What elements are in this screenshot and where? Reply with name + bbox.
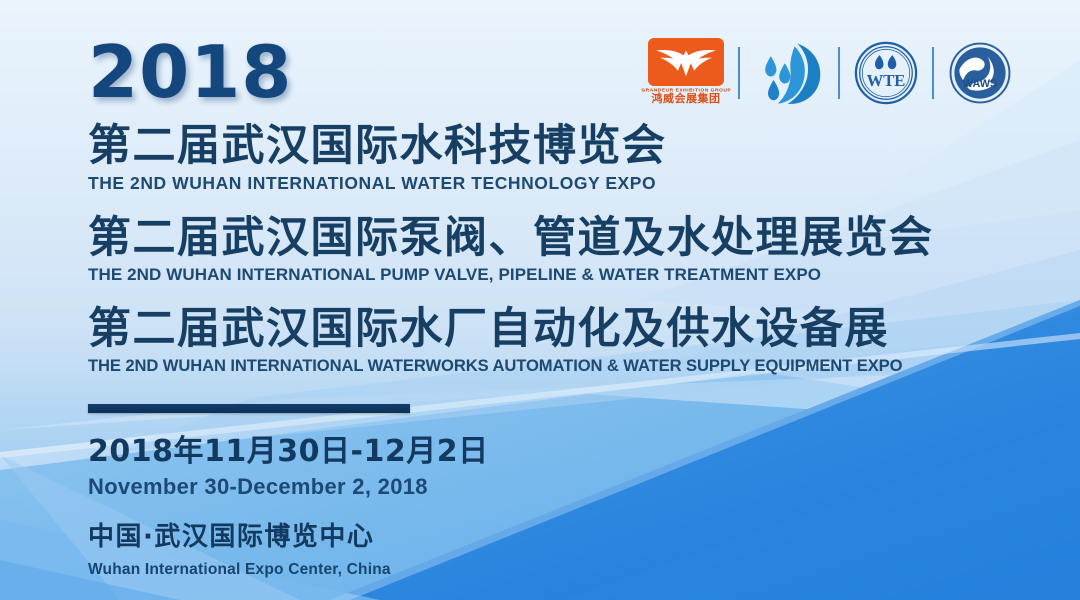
- title-block-pump-valve: 第二届武汉国际泵阀、管道及水处理展览会 THE 2ND WUHAN INTERN…: [88, 214, 934, 285]
- title-cn-3: 第二届武汉国际水厂自动化及供水设备展: [88, 305, 934, 353]
- water-drop-logo: [754, 38, 824, 108]
- water-droplets-icon: [754, 38, 824, 108]
- title-en-2: THE 2ND WUHAN INTERNATIONAL PUMP VALVE, …: [88, 265, 934, 285]
- event-date-en: November 30-December 2, 2018: [88, 474, 934, 500]
- grandeur-english-name: GRANDEUR EXHIBITION GROUP: [641, 87, 731, 92]
- title-en-1: THE 2ND WUHAN INTERNATIONAL WATER TECHNO…: [88, 173, 934, 194]
- grandeur-chinese-name: 鸿威会展集团: [652, 93, 721, 105]
- waws-logo: WAWS: [948, 41, 1012, 105]
- event-venue-en: Wuhan International Expo Center, China: [88, 561, 934, 579]
- logo-divider: [932, 47, 934, 99]
- wte-logo: WTE: [854, 41, 918, 105]
- wte-seal-icon: WTE: [854, 41, 918, 105]
- logo-divider: [738, 47, 740, 99]
- event-details: 2018年11月30日-12月2日 November 30-December 2…: [88, 435, 934, 579]
- title-cn-1: 第二届武汉国际水科技博览会: [88, 122, 934, 170]
- waws-globe-icon: WAWS: [948, 41, 1012, 105]
- title-cn-2: 第二届武汉国际泵阀、管道及水处理展览会: [88, 214, 934, 262]
- event-date-cn: 2018年11月30日-12月2日: [88, 435, 934, 470]
- section-divider-bar: [88, 404, 410, 413]
- logo-divider: [838, 47, 840, 99]
- title-block-water-technology: 第二届武汉国际水科技博览会 THE 2ND WUHAN INTERNATIONA…: [88, 122, 934, 194]
- title-block-waterworks-automation: 第二届武汉国际水厂自动化及供水设备展 THE 2ND WUHAN INTERNA…: [88, 305, 934, 376]
- expo-banner: GRANDEUR EXHIBITION GROUP 鸿威会展集团: [0, 0, 1080, 600]
- grandeur-w-wing-icon: [648, 38, 724, 86]
- title-en-3: THE 2ND WUHAN INTERNATIONAL WATERWORKS A…: [88, 356, 934, 376]
- event-venue-cn: 中国·武汉国际博览中心: [88, 516, 934, 553]
- waws-label: WAWS: [963, 78, 997, 90]
- grandeur-exhibition-group-logo: GRANDEUR EXHIBITION GROUP 鸿威会展集团: [648, 38, 724, 108]
- wte-label: WTE: [867, 71, 906, 90]
- sponsor-logo-strip: GRANDEUR EXHIBITION GROUP 鸿威会展集团: [648, 38, 1012, 108]
